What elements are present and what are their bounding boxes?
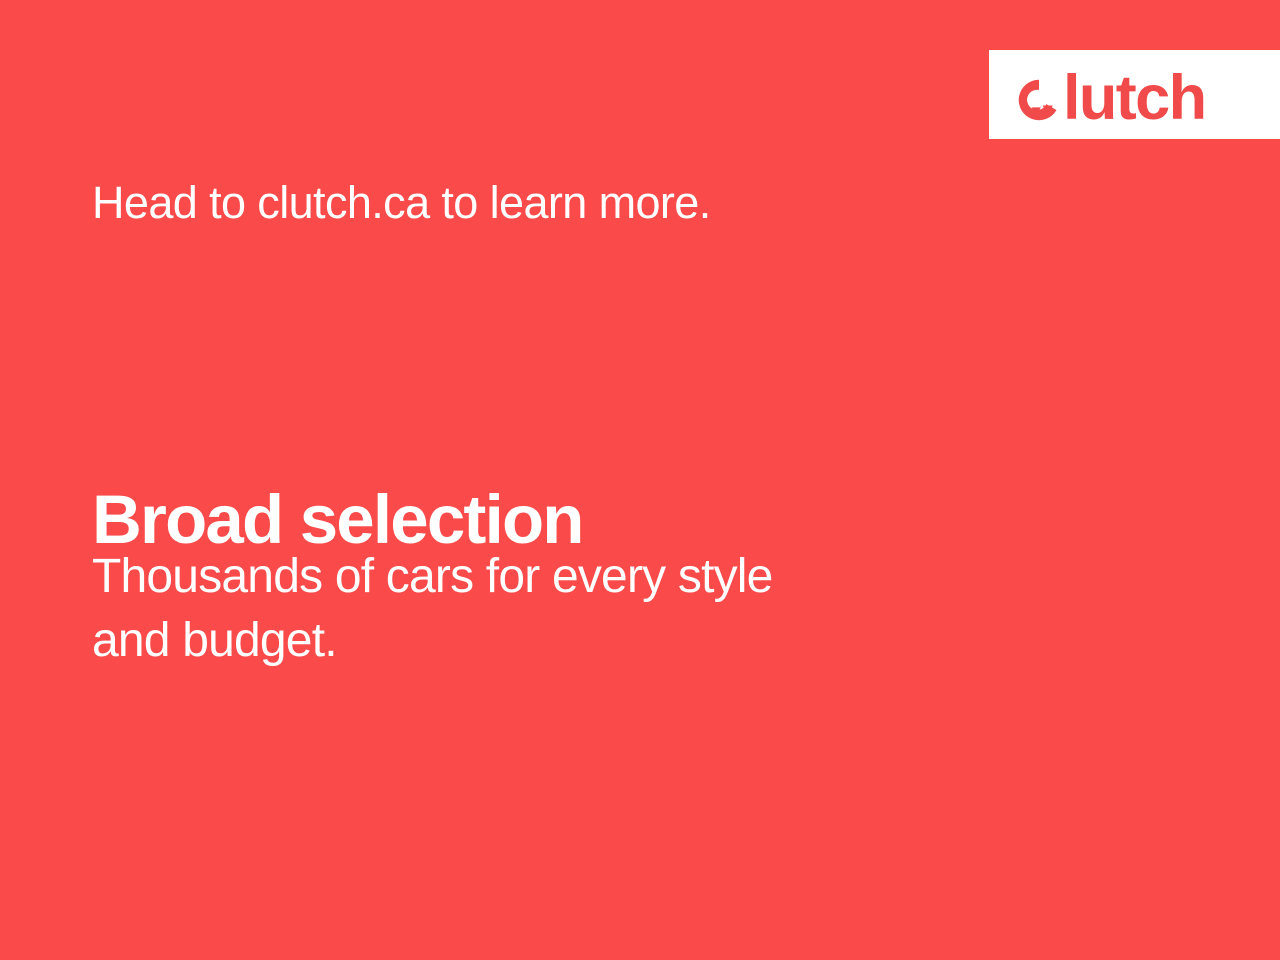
clutch-logo-lockup[interactable]: lutch bbox=[1016, 66, 1206, 124]
subhead-line: and budget. bbox=[92, 609, 1052, 673]
subhead-line: Thousands of cars for every style bbox=[92, 545, 1052, 609]
clutch-c-mark-icon bbox=[1016, 77, 1062, 123]
promo-slide: lutch Head to clutch.ca to learn more. B… bbox=[0, 0, 1280, 960]
eyebrow-text: Head to clutch.ca to learn more. bbox=[92, 178, 711, 228]
subhead-text: Thousands of cars for every style and bu… bbox=[92, 545, 1052, 674]
clutch-wordmark-text: lutch bbox=[1063, 74, 1206, 123]
brand-logo-plate: lutch bbox=[989, 50, 1280, 139]
